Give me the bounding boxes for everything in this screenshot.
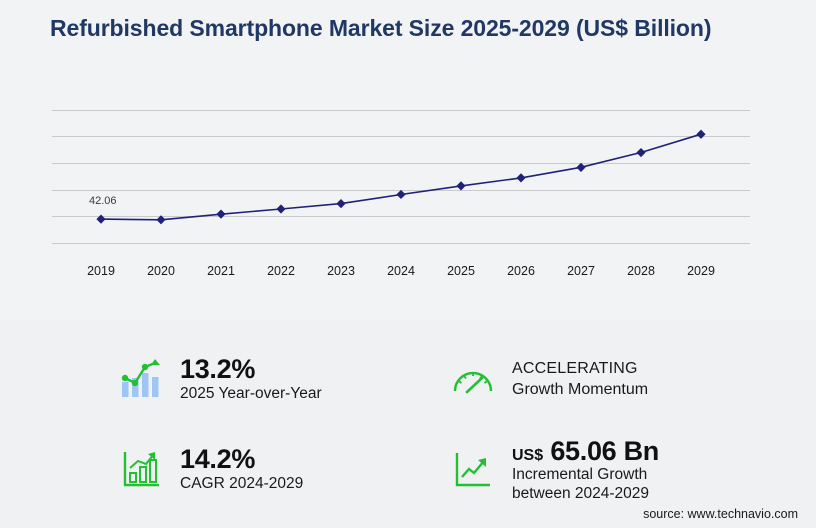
data-point-label: 42.06 bbox=[89, 195, 117, 207]
source-text: source: www.technavio.com bbox=[643, 507, 798, 521]
stats-panel: 13.2% 2025 Year-over-Year ACCELERATING bbox=[0, 320, 816, 528]
data-point-marker bbox=[216, 210, 225, 219]
data-point-marker bbox=[456, 181, 465, 190]
stat-card-yoy: 13.2% 2025 Year-over-Year bbox=[118, 348, 448, 410]
data-point-marker bbox=[156, 215, 165, 224]
x-axis-tick: 2029 bbox=[687, 264, 715, 278]
data-point-marker bbox=[576, 163, 585, 172]
stat-value: 13.2% bbox=[180, 354, 322, 384]
stat-text: US$ 65.06 Bn Incremental Growth between … bbox=[512, 436, 659, 504]
x-axis-tick: 2023 bbox=[327, 264, 355, 278]
trend-line-arrow-icon bbox=[450, 447, 496, 493]
x-axis-tick: 2025 bbox=[447, 264, 475, 278]
speedometer-icon bbox=[450, 356, 496, 402]
series-markers bbox=[96, 130, 705, 225]
chart-series-svg bbox=[52, 110, 750, 258]
x-axis-tick: 2024 bbox=[387, 264, 415, 278]
stat-label: Incremental Growth between 2024-2029 bbox=[512, 466, 659, 504]
stat-text: ACCELERATING Growth Momentum bbox=[512, 359, 648, 399]
stat-label: Growth Momentum bbox=[512, 380, 648, 400]
stat-amount: 65.06 Bn bbox=[550, 436, 659, 466]
x-axis-tick: 2020 bbox=[147, 264, 175, 278]
stat-card-momentum: ACCELERATING Growth Momentum bbox=[450, 348, 790, 410]
infographic-page: Refurbished Smartphone Market Size 2025-… bbox=[0, 0, 816, 528]
stat-value: ACCELERATING bbox=[512, 359, 648, 380]
stat-card-incremental-growth: US$ 65.06 Bn Incremental Growth between … bbox=[450, 432, 790, 508]
stat-value: US$ 65.06 Bn bbox=[512, 436, 659, 466]
page-title: Refurbished Smartphone Market Size 2025-… bbox=[50, 14, 750, 43]
data-point-marker bbox=[396, 190, 405, 199]
x-axis-tick: 2019 bbox=[87, 264, 115, 278]
data-point-marker bbox=[516, 173, 525, 182]
data-point-marker bbox=[336, 199, 345, 208]
data-point-marker bbox=[636, 148, 645, 157]
bar-chart-arrow-icon bbox=[118, 446, 164, 492]
stat-unit: US$ bbox=[512, 447, 543, 464]
chart-plot-area: 42.06 bbox=[52, 110, 750, 258]
data-point-marker bbox=[276, 204, 285, 213]
x-axis-tick: 2026 bbox=[507, 264, 535, 278]
data-point-marker bbox=[96, 214, 105, 223]
line-chart: 42.06 2019202020212022202320242025202620… bbox=[0, 95, 816, 285]
data-point-marker bbox=[696, 130, 705, 139]
stat-text: 14.2% CAGR 2024-2029 bbox=[180, 444, 303, 493]
stat-text: 13.2% 2025 Year-over-Year bbox=[180, 354, 322, 403]
bar-line-chart-icon bbox=[118, 356, 164, 402]
x-axis-tick: 2022 bbox=[267, 264, 295, 278]
x-axis: 2019202020212022202320242025202620272028… bbox=[52, 258, 750, 288]
stat-card-cagr: 14.2% CAGR 2024-2029 bbox=[118, 438, 448, 500]
x-axis-tick: 2021 bbox=[207, 264, 235, 278]
stat-label: 2025 Year-over-Year bbox=[180, 385, 322, 404]
series-line bbox=[101, 134, 701, 220]
x-axis-tick: 2028 bbox=[627, 264, 655, 278]
x-axis-tick: 2027 bbox=[567, 264, 595, 278]
stat-label: CAGR 2024-2029 bbox=[180, 475, 303, 494]
stat-value: 14.2% bbox=[180, 444, 303, 474]
